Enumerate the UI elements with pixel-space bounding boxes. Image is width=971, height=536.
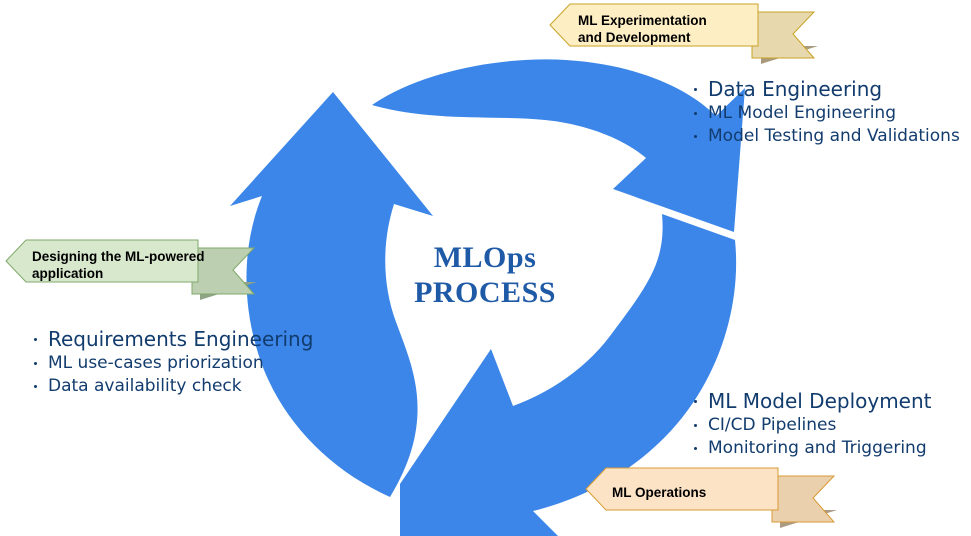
banner-label: ML Experimentation and Development <box>578 13 707 47</box>
list-item: Data availability check <box>30 375 313 397</box>
list-item: ML Model Engineering <box>690 102 960 124</box>
banner-tail <box>772 476 834 522</box>
banner-tail <box>752 12 814 58</box>
banner-label: Designing the ML-powered application <box>32 249 205 283</box>
banner-ml-operations[interactable]: ML Operations <box>584 466 854 528</box>
page-title: MLOps PROCESS <box>385 240 585 311</box>
list-ml-experimentation: Data Engineering ML Model Engineering Mo… <box>690 76 960 147</box>
list-item: ML Model Deployment <box>690 388 932 414</box>
banner-ml-experimentation[interactable]: ML Experimentation and Development <box>548 2 848 64</box>
title-line-1: MLOps <box>385 240 585 275</box>
list-item: Model Testing and Validations <box>690 125 960 147</box>
list-ml-operations: ML Model Deployment CI/CD Pipelines Moni… <box>690 388 932 459</box>
title-line-2: PROCESS <box>385 275 585 310</box>
list-designing-ml-powered-application: Requirements Engineering ML use-cases pr… <box>30 326 313 397</box>
list-item: Monitoring and Triggering <box>690 437 932 459</box>
banner-label: ML Operations <box>612 485 706 502</box>
banner-designing-ml-powered-application[interactable]: Designing the ML-powered application <box>4 238 274 300</box>
list-item: ML use-cases priorization <box>30 352 313 374</box>
list-item: Requirements Engineering <box>30 326 313 352</box>
list-item: CI/CD Pipelines <box>690 414 932 436</box>
list-item: Data Engineering <box>690 76 960 102</box>
mlops-process-diagram: MLOps PROCESS ML Experimentation and Dev… <box>0 0 971 536</box>
